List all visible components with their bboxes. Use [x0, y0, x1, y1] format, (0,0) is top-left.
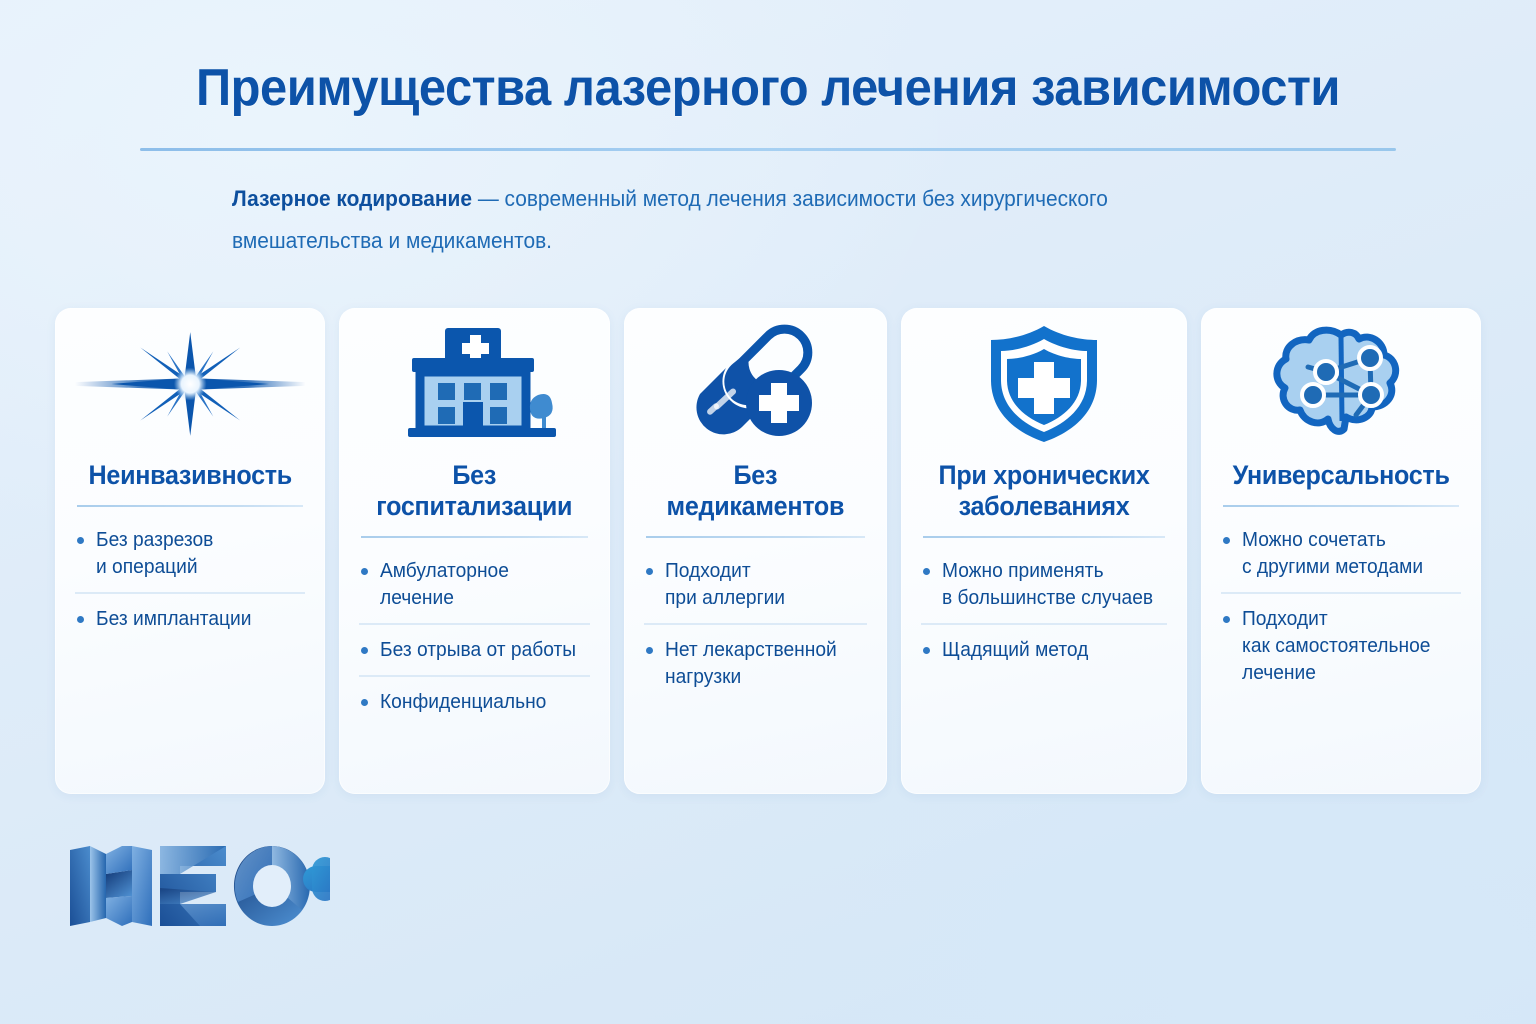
bullet-dot-icon — [1223, 616, 1230, 623]
neo-plus-logo[interactable] — [60, 836, 330, 932]
card-bullet-list: Амбулаторное лечение Без отрыва от работ… — [359, 546, 589, 716]
list-item: Подходит как самостоятельное лечение — [1221, 592, 1461, 687]
card-bullet-list: Можно сочетать с другими методами Подход… — [1221, 515, 1461, 687]
bullet-text: Амбулаторное лечение — [380, 558, 509, 612]
shield-cross-icon — [921, 308, 1167, 460]
bullet-dot-icon — [923, 647, 930, 654]
card-title: Универсальность — [1229, 460, 1452, 491]
brain-network-icon — [1221, 308, 1461, 460]
bullet-dot-icon — [361, 699, 368, 706]
bullet-text: Можно применять в большинстве случаев — [942, 558, 1153, 612]
bullet-text: Подходит при аллергии — [665, 558, 785, 612]
bullet-dot-icon — [646, 568, 653, 575]
bullet-text: Подходит как самостоятельное лечение — [1242, 606, 1430, 687]
list-item: Можно применять в большинстве случаев — [921, 546, 1167, 612]
bullet-text: Щадящий метод — [942, 637, 1088, 664]
card-title: При хронических заболеваниях — [929, 460, 1158, 522]
bullet-dot-icon — [923, 568, 930, 575]
benefit-cards-row: Неинвазивность Без разрезов и операций Б… — [55, 308, 1481, 794]
title-divider — [140, 148, 1396, 151]
bullet-text: Нет лекарственной нагрузки — [665, 637, 837, 691]
bullet-dot-icon — [361, 647, 368, 654]
benefit-card-no-hospitalization[interactable]: Без госпитализации Амбулаторное лечение … — [339, 308, 609, 794]
card-title-divider — [1223, 505, 1459, 507]
bullet-text: Без отрыва от работы — [380, 637, 576, 664]
benefit-card-noninvasive[interactable]: Неинвазивность Без разрезов и операций Б… — [55, 308, 325, 794]
laser-burst-icon — [75, 308, 305, 460]
benefit-card-chronic-conditions[interactable]: При хронических заболеваниях Можно приме… — [901, 308, 1187, 794]
bullet-text: Без разрезов и операций — [96, 527, 213, 581]
bullet-text: Без имплантации — [96, 606, 252, 633]
card-title: Неинвазивность — [83, 460, 297, 491]
card-title: Без медикаментов — [652, 460, 859, 522]
list-item: Конфиденциально — [359, 675, 589, 716]
list-item: Без разрезов и операций — [75, 515, 305, 581]
card-bullet-list: Можно применять в большинстве случаев Ща… — [921, 546, 1167, 664]
subtitle: Лазерное кодирование — современный метод… — [232, 178, 1182, 262]
bullet-text: Конфиденциально — [380, 689, 546, 716]
benefit-card-universality[interactable]: Универсальность Можно сочетать с другими… — [1201, 308, 1481, 794]
card-title: Без госпитализации — [368, 460, 582, 522]
bullet-dot-icon — [77, 537, 84, 544]
card-title-divider — [646, 536, 865, 538]
benefit-card-no-medication[interactable]: Без медикаментов Подходит при аллергии Н… — [624, 308, 887, 794]
bullet-dot-icon — [646, 647, 653, 654]
card-bullet-list: Подходит при аллергии Нет лекарственной … — [644, 546, 867, 691]
list-item: Нет лекарственной нагрузки — [644, 623, 867, 691]
card-title-divider — [361, 536, 587, 538]
list-item: Без имплантации — [75, 592, 305, 633]
bullet-dot-icon — [361, 568, 368, 575]
page-title: Преимущества лазерного лечения зависимос… — [46, 58, 1490, 118]
card-title-divider — [923, 536, 1165, 538]
card-bullet-list: Без разрезов и операций Без имплантации — [75, 515, 305, 633]
subtitle-strong: Лазерное кодирование — [232, 186, 472, 211]
bullet-text: Можно сочетать с другими методами — [1242, 527, 1423, 581]
hospital-building-icon — [359, 308, 589, 460]
bullet-dot-icon — [77, 616, 84, 623]
infographic-canvas: Преимущества лазерного лечения зависимос… — [0, 0, 1536, 1024]
pill-capsule-cross-icon — [644, 308, 867, 460]
list-item: Можно сочетать с другими методами — [1221, 515, 1461, 581]
list-item: Подходит при аллергии — [644, 546, 867, 612]
list-item: Щадящий метод — [921, 623, 1167, 664]
card-title-divider — [77, 505, 303, 507]
bullet-dot-icon — [1223, 537, 1230, 544]
list-item: Амбулаторное лечение — [359, 546, 589, 612]
list-item: Без отрыва от работы — [359, 623, 589, 664]
